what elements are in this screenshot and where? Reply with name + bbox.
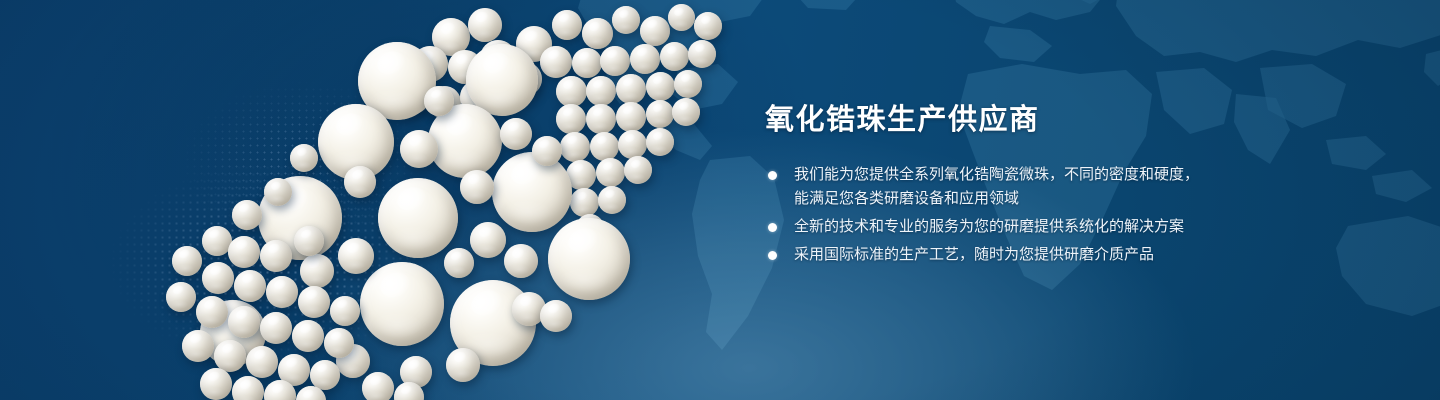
dot-bullet-icon	[768, 171, 777, 180]
bullet-item-2: 全新的技术和专业的服务为您的研磨提供系统化的解决方案	[765, 215, 1405, 239]
bullet-1-line-2: 能满足您各类研磨设备和应用领域	[794, 187, 1405, 211]
hero-banner: 氧化锆珠生产供应商 我们能为您提供全系列氧化锆陶瓷微珠，不同的密度和硬度， 能满…	[0, 0, 1440, 400]
banner-copy-block: 氧化锆珠生产供应商 我们能为您提供全系列氧化锆陶瓷微珠，不同的密度和硬度， 能满…	[765, 104, 1405, 267]
dot-bullet-icon	[768, 223, 777, 232]
bullet-1-line-1: 我们能为您提供全系列氧化锆陶瓷微珠，不同的密度和硬度，	[794, 163, 1405, 187]
bullet-2-line-1: 全新的技术和专业的服务为您的研磨提供系统化的解决方案	[794, 215, 1405, 239]
bullet-3-line-1: 采用国际标准的生产工艺，随时为您提供研磨介质产品	[794, 243, 1405, 267]
bullet-item-1: 我们能为您提供全系列氧化锆陶瓷微珠，不同的密度和硬度， 能满足您各类研磨设备和应…	[765, 163, 1405, 211]
dot-bullet-icon	[768, 251, 777, 260]
banner-bullet-list: 我们能为您提供全系列氧化锆陶瓷微珠，不同的密度和硬度， 能满足您各类研磨设备和应…	[765, 163, 1405, 267]
banner-headline: 氧化锆珠生产供应商	[765, 104, 1405, 137]
bullet-item-3: 采用国际标准的生产工艺，随时为您提供研磨介质产品	[765, 243, 1405, 267]
